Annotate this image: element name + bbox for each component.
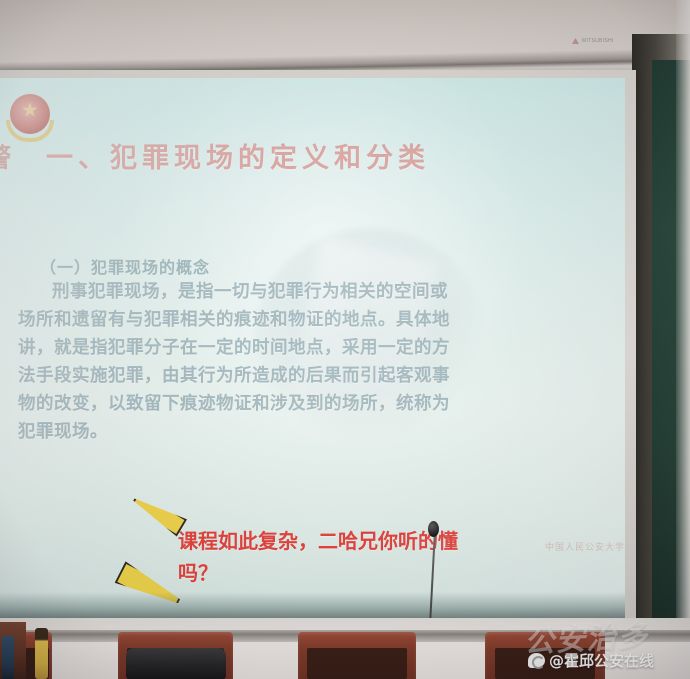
- watermark-handle-row: @霍邱公安在线: [528, 650, 654, 671]
- weibo-logo-icon: [528, 653, 545, 668]
- slide-footnote: 中国人民公安大学: [545, 540, 625, 553]
- body-line-5: 物的改变，以致留下痕迹物证和涉及到的场所，统称为: [18, 390, 618, 418]
- chair-back-gap: [307, 648, 406, 679]
- thermos-bottle: [35, 628, 48, 679]
- projector-brand-text: MITSUBISHI: [582, 38, 614, 44]
- body-line-1: 刑事犯罪现场，是指一切与犯罪行为相关的空间或: [18, 278, 618, 306]
- black-bag: [126, 648, 226, 679]
- right-wall-strip: [676, 0, 690, 679]
- projector-brand-label: MITSUBISHI: [572, 38, 614, 44]
- body-line-4: 法手段实施犯罪，由其行为所造成的后果而引起客观事: [18, 362, 618, 390]
- gooseneck-microphone-icon: [428, 521, 439, 537]
- annotation-caption: 课程如此复杂，二哈兄你听的懂 吗？: [178, 525, 548, 589]
- watermark-handle: @霍邱公安在线: [549, 650, 654, 671]
- emblem-label: 警: [0, 137, 13, 175]
- body-line-2: 场所和遗留有与犯罪相关的痕迹和物证的地点。具体地: [18, 306, 618, 334]
- body-line-6: 犯罪现场。: [18, 418, 618, 446]
- slide-body-text: 刑事犯罪现场，是指一切与犯罪行为相关的空间或 场所和遗留有与犯罪相关的痕迹和物证…: [18, 278, 618, 446]
- annotation-line-1: 课程如此复杂，二哈兄你听的懂: [178, 525, 548, 557]
- annotation-line-2: 吗？: [178, 557, 548, 589]
- chair-2: [298, 632, 416, 679]
- slide-title: 一、犯罪现场的定义和分类: [46, 136, 430, 175]
- screen-bottom-shadow: [0, 592, 625, 618]
- mitsubishi-icon: [572, 38, 579, 44]
- body-line-3: 讲，就是指犯罪分子在一定的时间地点，采用一定的方: [18, 334, 618, 362]
- slide-subheading: （一）犯罪现场的概念: [40, 254, 210, 278]
- photo-canvas: MITSUBISHI 警 一、犯罪现场的定义和分类 （一）犯罪现场的概念 刑事犯…: [0, 0, 690, 679]
- podium-object: [2, 636, 14, 679]
- projection-screen: 警 一、犯罪现场的定义和分类 （一）犯罪现场的概念 刑事犯罪现场，是指一切与犯罪…: [0, 78, 625, 618]
